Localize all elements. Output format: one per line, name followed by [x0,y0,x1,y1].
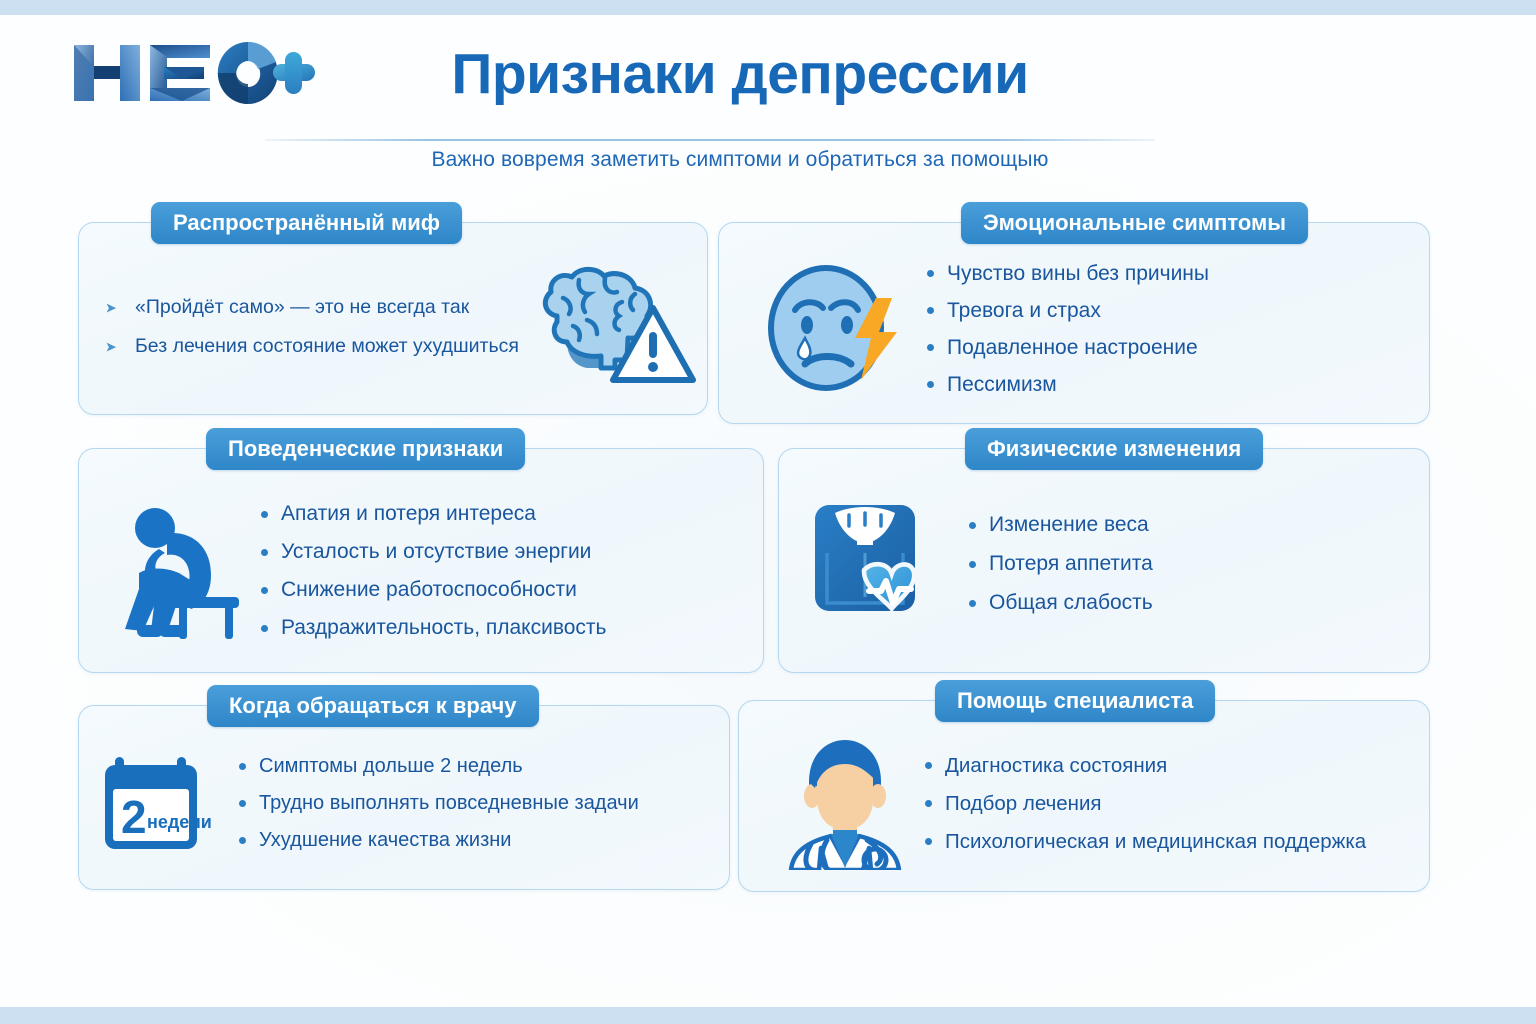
title-divider [265,139,1155,141]
card-when-badge: Когда обращаться к врачу [207,685,539,727]
list-item: Раздражительность, плаксивость [259,616,607,640]
card-help-list: Диагностика состояния Подбор лечения Пси… [923,740,1366,868]
calendar-big-number: 2 [121,791,147,843]
card-when-body: 2 недели Симптомы дольше 2 недель Трудно… [103,736,713,871]
list-item: «Пройдёт само» — это не всегда так [105,296,525,319]
card-myth: Распространённый миф «Пройдёт само» — эт… [78,222,708,415]
list-item: Подбор лечения [923,792,1366,816]
card-emotional-list: Чувство вины без причины Тревога и страх… [925,249,1209,410]
card-physical-badge: Физические изменения [965,428,1263,470]
card-behavior-body: Апатия и потеря интереса Усталость и отс… [103,481,753,661]
sad-face-lightning-icon [763,262,903,397]
card-behavior-list: Апатия и потеря интереса Усталость и отс… [259,488,607,654]
card-physical-body: Изменение веса Потеря аппетита Общая сла… [811,479,1411,649]
card-when-to-see-doctor: Когда обращаться к врачу 2 недели Симпто… [78,705,730,890]
card-emotional: Эмоциональные симптомы Чувство вины без … [718,222,1430,424]
list-item: Симптомы дольше 2 недель [237,755,639,778]
page-subtitle: Важно вовремя заметить симптоми и обрати… [330,148,1150,172]
card-physical: Физические изменения [778,448,1430,673]
neo-plus-logo [72,37,317,109]
list-item: Диагностика состояния [923,754,1366,778]
card-myth-list: «Пройдёт само» — это не всегда так Без л… [105,296,525,358]
list-item: Пессимизм [925,373,1209,397]
sitting-person-icon [103,501,245,641]
list-item: Снижение работоспособности [259,578,607,602]
card-behavior: Поведенческие признаки [78,448,764,673]
list-item: Усталость и отсутствие энергии [259,540,607,564]
list-item: Общая слабость [967,591,1153,615]
card-emotional-badge: Эмоциональные симптомы [961,202,1308,244]
list-item: Ухудшение качества жизни [237,829,639,852]
doctor-icon [771,738,911,870]
top-accent-band [0,0,1536,15]
list-item: Изменение веса [967,513,1153,537]
list-item: Без лечения состояние может ухудшиться [105,335,525,358]
card-myth-body: «Пройдёт само» — это не всегда так Без л… [105,257,705,397]
list-item: Чувство вины без причины [925,262,1209,286]
card-emotional-body: Чувство вины без причины Тревога и страх… [763,249,1413,409]
brain-warning-icon [525,260,700,395]
card-specialist-help: Помощь специалиста [738,700,1430,892]
card-help-badge: Помощь специалиста [935,680,1215,722]
list-item: Психологическая и медицинская поддержка [923,830,1366,854]
list-item: Потеря аппетита [967,552,1153,576]
card-myth-badge: Распространённый миф [151,202,462,244]
list-item: Апатия и потеря интереса [259,502,607,526]
calendar-two-weeks-icon: 2 недели [103,751,221,856]
weight-scale-heart-icon [811,499,951,629]
list-item: Тревога и страх [925,299,1209,323]
bottom-accent-band [0,1007,1536,1024]
card-physical-list: Изменение веса Потеря аппетита Общая сла… [967,498,1153,630]
page-header: Признаки депрессии Важно вовремя заметит… [0,15,1536,170]
page-title: Признаки депрессии [330,41,1150,107]
calendar-small-label: недели [147,812,212,832]
list-item: Подавленное настроение [925,336,1209,360]
card-help-body: Диагностика состояния Подбор лечения Пси… [771,731,1421,876]
list-item: Трудно выполнять повседневные задачи [237,792,639,815]
card-when-list: Симптомы дольше 2 недель Трудно выполнят… [237,741,639,866]
card-behavior-badge: Поведенческие признаки [206,428,525,470]
